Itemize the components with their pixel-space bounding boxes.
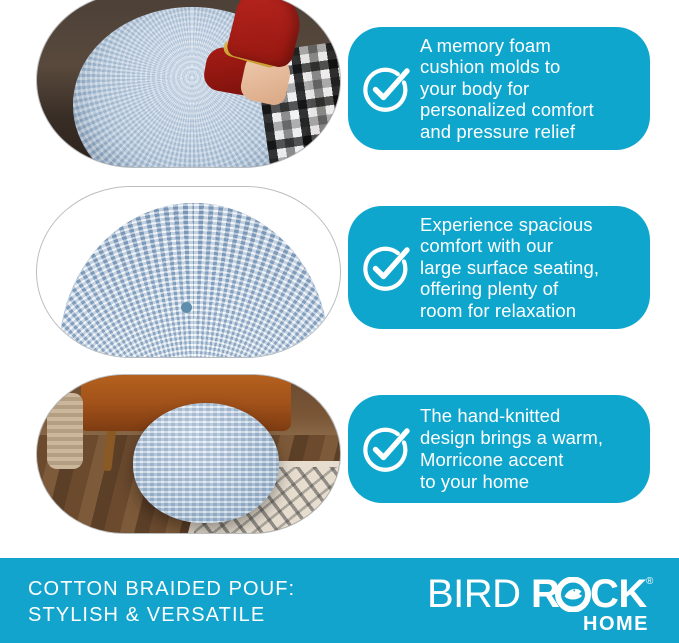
infographic-canvas: A memory foam cushion molds to your body…	[0, 0, 679, 643]
feature-callout-2-text: Experience spacious comfort with our lar…	[420, 214, 599, 322]
product-photo-1	[37, 0, 340, 167]
bird-in-circle-icon	[555, 577, 591, 612]
logo-text-home: HOME	[583, 614, 649, 634]
product-photo-2	[37, 187, 340, 357]
logo-wordmark: BIRD R CK ®	[427, 574, 657, 614]
circle-check-icon	[360, 63, 412, 115]
product-photo-3	[37, 375, 340, 533]
banner-tagline: COTTON BRAIDED POUF: STYLISH & VERSATILE	[28, 576, 295, 628]
circle-check-icon	[360, 423, 412, 475]
photo-2-center-knot	[181, 302, 192, 313]
circle-check-icon	[360, 242, 412, 294]
photo-3-basket	[47, 393, 83, 469]
feature-callout-3: The hand-knitted design brings a warm, M…	[348, 395, 650, 503]
product-photo-card-3	[36, 374, 341, 534]
feature-callout-1: A memory foam cushion molds to your body…	[348, 27, 650, 150]
bottom-banner: COTTON BRAIDED POUF: STYLISH & VERSATILE…	[0, 558, 679, 643]
feature-callout-2: Experience spacious comfort with our lar…	[348, 206, 650, 329]
feature-callout-3-text: The hand-knitted design brings a warm, M…	[420, 405, 603, 493]
product-photo-card-1	[36, 0, 341, 168]
logo-text-ck: CK	[590, 574, 647, 614]
logo-text-bird: BIRD	[427, 574, 521, 614]
registered-trademark-icon: ®	[646, 576, 653, 587]
birdrock-home-logo: BIRD R CK ® HOME	[427, 574, 657, 632]
product-photo-card-2	[36, 186, 341, 358]
feature-callout-1-text: A memory foam cushion molds to your body…	[420, 35, 594, 143]
photo-3-pouf	[133, 403, 279, 523]
